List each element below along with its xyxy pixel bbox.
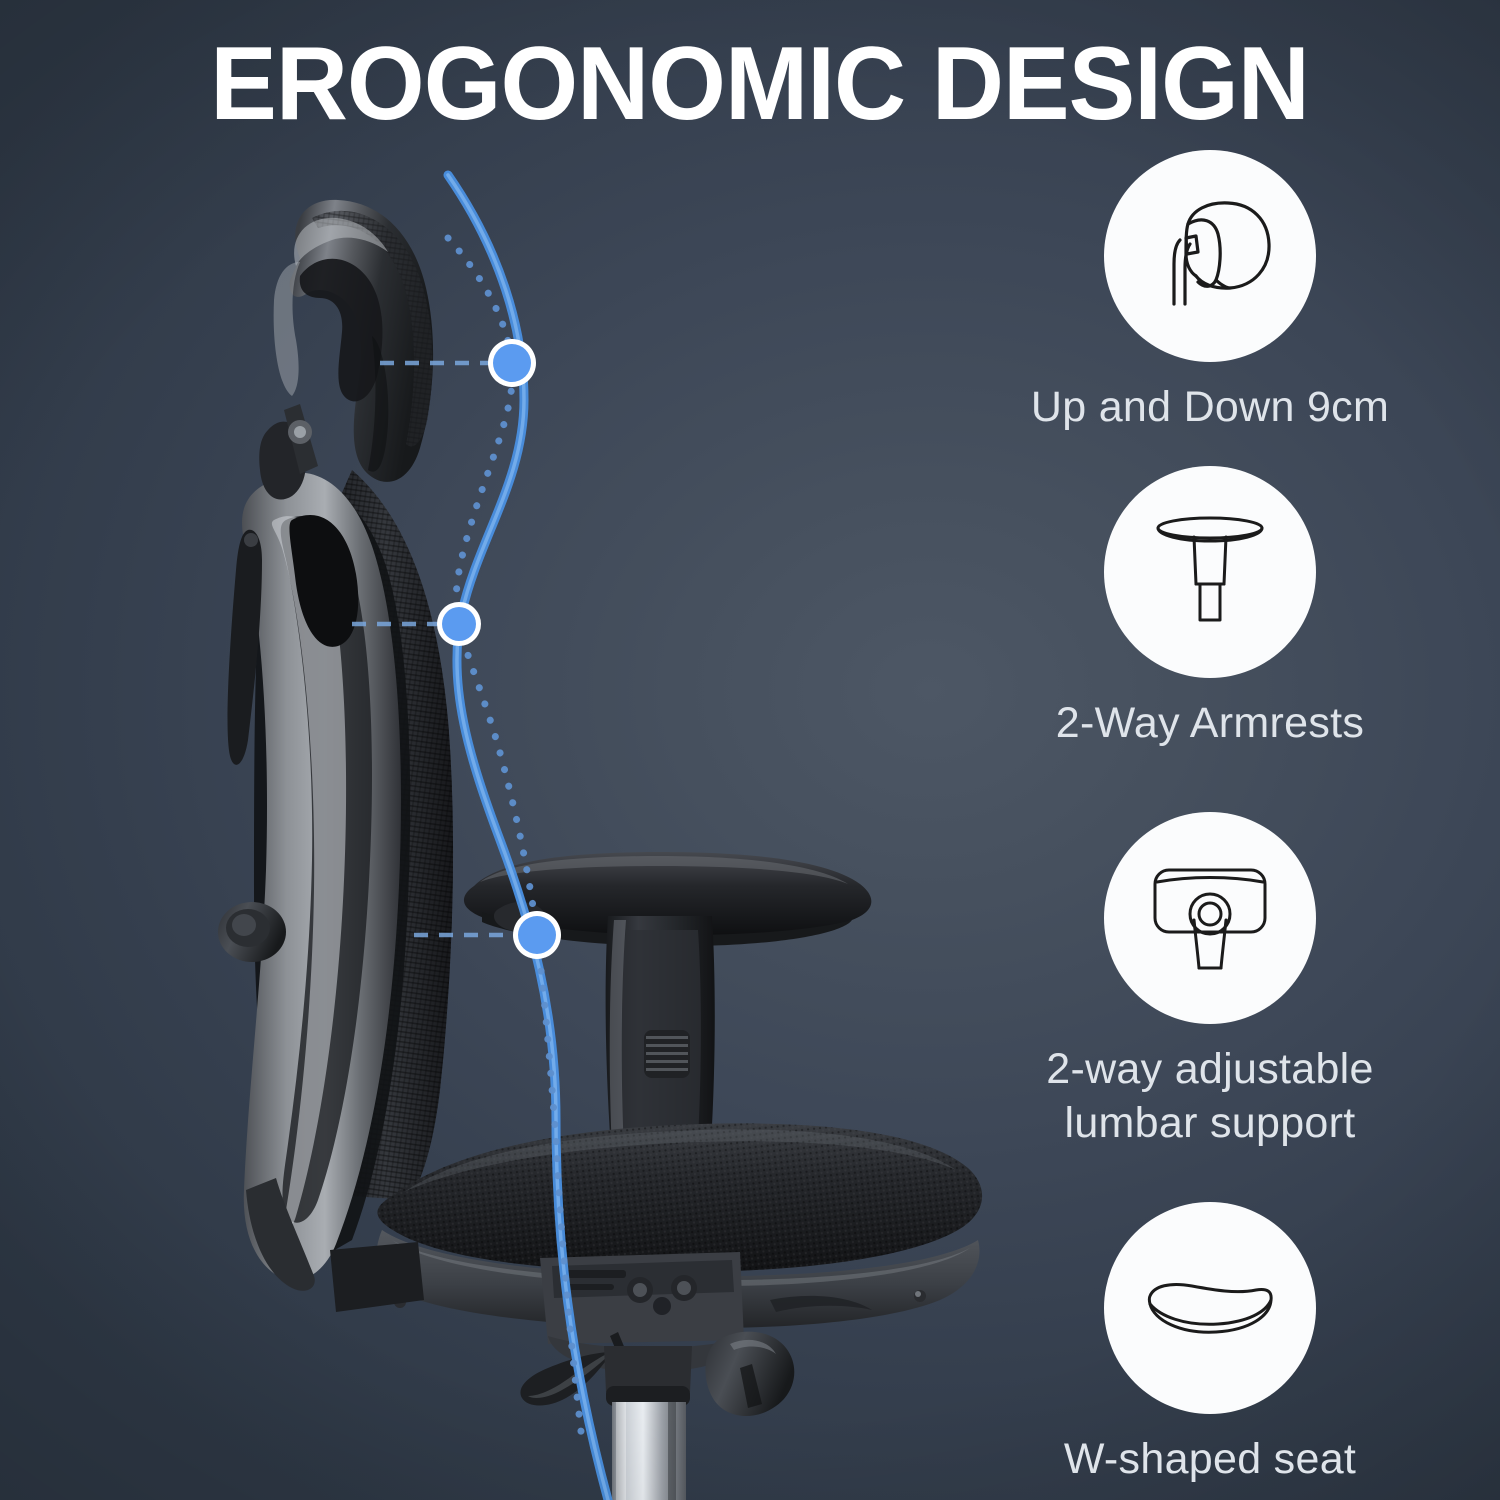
tension-knob	[705, 1332, 794, 1416]
feature-label: 2-way adjustable lumbar support	[960, 1042, 1460, 1150]
callout-dot-lumbar[interactable]	[437, 602, 481, 646]
feature-label: Up and Down 9cm	[960, 380, 1460, 434]
chair-base	[520, 1332, 794, 1500]
armrest-grip-ribs	[644, 1030, 690, 1078]
back-strip-pivot	[244, 533, 258, 547]
page-title: EROGONOMIC DESIGN	[30, 28, 1470, 140]
chair-backrest	[218, 470, 453, 1291]
seat-back-bracket	[330, 1242, 424, 1312]
feature-icon-circle	[1104, 812, 1316, 1024]
w-shaped-seat-icon	[1130, 1228, 1290, 1388]
feature-icon-circle	[1104, 150, 1316, 362]
feature-icon-circle	[1104, 1202, 1316, 1414]
lumbar-knob	[218, 902, 286, 962]
callout-dot-armrest[interactable]	[513, 911, 561, 959]
feature-item-armrests[interactable]: 2-Way Armrests	[960, 466, 1460, 750]
lumbar-support-icon	[1130, 838, 1290, 998]
feature-label: 2-Way Armrests	[960, 696, 1460, 750]
armrest-pad-icon	[1130, 492, 1290, 652]
feature-item-lumbar[interactable]: 2-way adjustable lumbar support	[960, 812, 1460, 1150]
chair-seat	[330, 1123, 982, 1372]
feature-item-seat[interactable]: W-shaped seat	[960, 1202, 1460, 1486]
callout-dot-headrest[interactable]	[488, 339, 536, 387]
headrest-icon	[1130, 176, 1290, 336]
chair-headrest	[259, 200, 433, 500]
feature-label: W-shaped seat	[960, 1432, 1460, 1486]
feature-icon-circle	[1104, 466, 1316, 678]
feature-item-headrest[interactable]: Up and Down 9cm	[960, 150, 1460, 434]
cylinder-collar	[604, 1346, 692, 1392]
infographic-canvas: EROGONOMIC DESIGN	[0, 0, 1500, 1500]
